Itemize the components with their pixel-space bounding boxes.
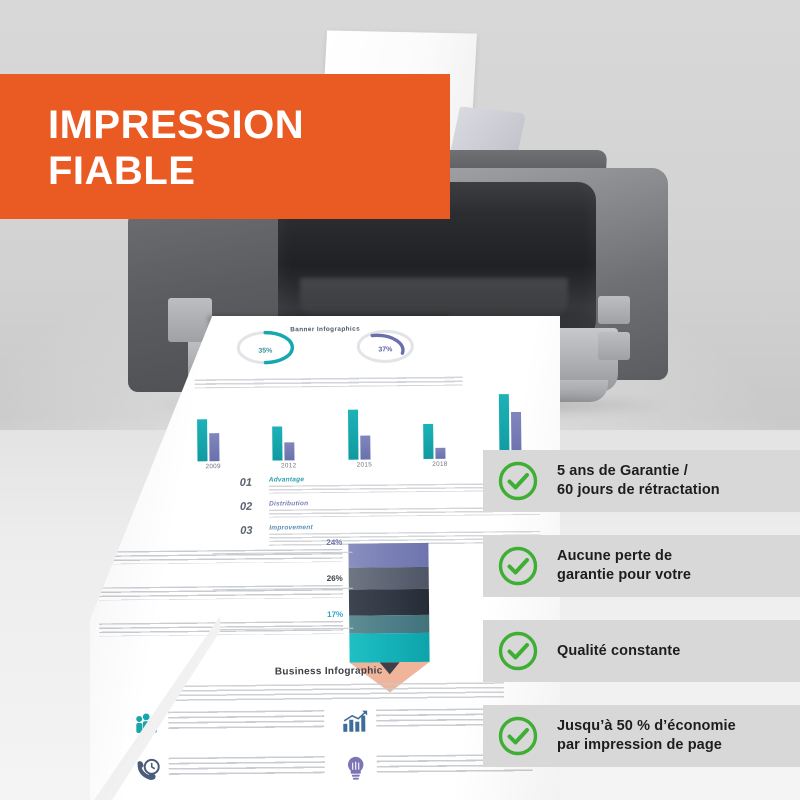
bar-group: [487, 390, 544, 459]
bar-group: [411, 391, 468, 460]
funnel-value: 24%: [98, 538, 342, 550]
bar-group: [260, 392, 317, 461]
bar-step-01: [348, 410, 359, 460]
bar-group: [184, 393, 241, 462]
poster-canvas: Banner Infographics 35% 37%: [0, 0, 800, 800]
bar-step-01: [197, 420, 207, 462]
bar-step-02: [285, 443, 295, 461]
feature-card-text: 5 ans de Garantie /60 jours de rétractat…: [557, 462, 720, 500]
icon-feature-row-1: [134, 708, 534, 736]
feature-line-1: Aucune perte de: [557, 547, 691, 566]
bar-step-01: [499, 394, 510, 458]
feature-list: 5 ans de Garantie /60 jours de rétractat…: [483, 450, 800, 790]
feature-line-1: Qualité constante: [557, 642, 680, 661]
check-circle-icon: [497, 630, 539, 672]
funnel-value: 26%: [99, 574, 343, 586]
headline-line-2: FIABLE: [48, 149, 195, 193]
funnel-callout-2: 26%: [99, 574, 349, 601]
check-circle-icon: [497, 715, 539, 757]
feature-card-text: Jusqu’à 50 % d’économiepar impression de…: [557, 717, 736, 755]
feature-line-1: Jusqu’à 50 % d’économie: [557, 717, 736, 736]
icon-feature-row-2: [135, 754, 535, 782]
feature-card-3[interactable]: Qualité constante: [483, 620, 800, 682]
bar-step-02: [436, 448, 446, 459]
donut-chart-1: 35%: [234, 340, 296, 371]
page-title: IMPRESSION FIABLE: [48, 102, 450, 194]
feature-line-2: 60 jours de rétractation: [557, 481, 720, 500]
donut-chart-2: 37%: [354, 339, 416, 370]
feature-card-4[interactable]: Jusqu’à 50 % d’économiepar impression de…: [483, 705, 800, 767]
pencil-funnel-graphic: [348, 543, 429, 674]
donut-value-1: 35%: [234, 347, 296, 355]
feature-line-2: par impression de page: [557, 736, 736, 755]
infographic-intro-text: [195, 377, 463, 389]
check-circle-icon: [497, 460, 539, 502]
headline-line-1: IMPRESSION: [48, 103, 304, 147]
printer-control-button-2: [598, 332, 630, 360]
funnel-text: [98, 549, 342, 565]
funnel-callout-3: 17%: [99, 610, 349, 637]
step-number: 01: [240, 477, 262, 489]
funnel-callouts: 24% 26% 17%: [98, 538, 349, 649]
funnel-callout-1: 24%: [98, 538, 348, 565]
x-tick-label: 2015: [336, 461, 392, 469]
check-circle-icon: [497, 545, 539, 587]
feature-card-text: Aucune perte degarantie pour votre: [557, 547, 691, 585]
icon-feature-text: [168, 710, 324, 730]
growth-chart-icon: [342, 710, 368, 734]
printer-control-button-1: [598, 296, 630, 324]
funnel-text: [99, 621, 343, 637]
funnel-text: [99, 585, 343, 601]
business-infographic-paragraph: [174, 682, 504, 701]
funnel-segment-2: [349, 567, 429, 590]
feature-line-1: 5 ans de Garantie /: [557, 462, 720, 481]
feature-line-2: garantie pour votre: [557, 566, 691, 585]
bar-step-02: [209, 433, 219, 461]
feature-card-text: Qualité constante: [557, 642, 680, 661]
step-number: 02: [240, 501, 262, 513]
step-number: 03: [240, 525, 262, 537]
donut-value-2: 37%: [354, 346, 416, 354]
x-tick-label: 2018: [412, 461, 468, 469]
lightbulb-icon: [343, 756, 369, 780]
icon-feature-text: [169, 756, 325, 776]
feature-card-2[interactable]: Aucune perte degarantie pour votre: [483, 535, 800, 597]
clock-phone-icon: [135, 758, 161, 782]
printer-drum-highlight: [300, 278, 568, 320]
x-tick-label: 2009: [185, 463, 241, 471]
headline-banner: IMPRESSION FIABLE: [0, 74, 450, 219]
x-tick-label: 2012: [261, 462, 317, 470]
funnel-segment-3: [349, 589, 429, 616]
funnel-segment-1: [348, 543, 428, 568]
funnel-segment-4: [349, 615, 429, 634]
bar-group: [336, 391, 393, 460]
bar-step-01: [272, 427, 282, 461]
icon-feature-cell: [135, 756, 325, 782]
bar-step-02: [360, 436, 370, 460]
bar-step-01: [424, 424, 434, 459]
funnel-segment-5: [349, 633, 429, 663]
funnel-value: 17%: [99, 610, 343, 622]
feature-card-1[interactable]: 5 ans de Garantie /60 jours de rétractat…: [483, 450, 800, 512]
